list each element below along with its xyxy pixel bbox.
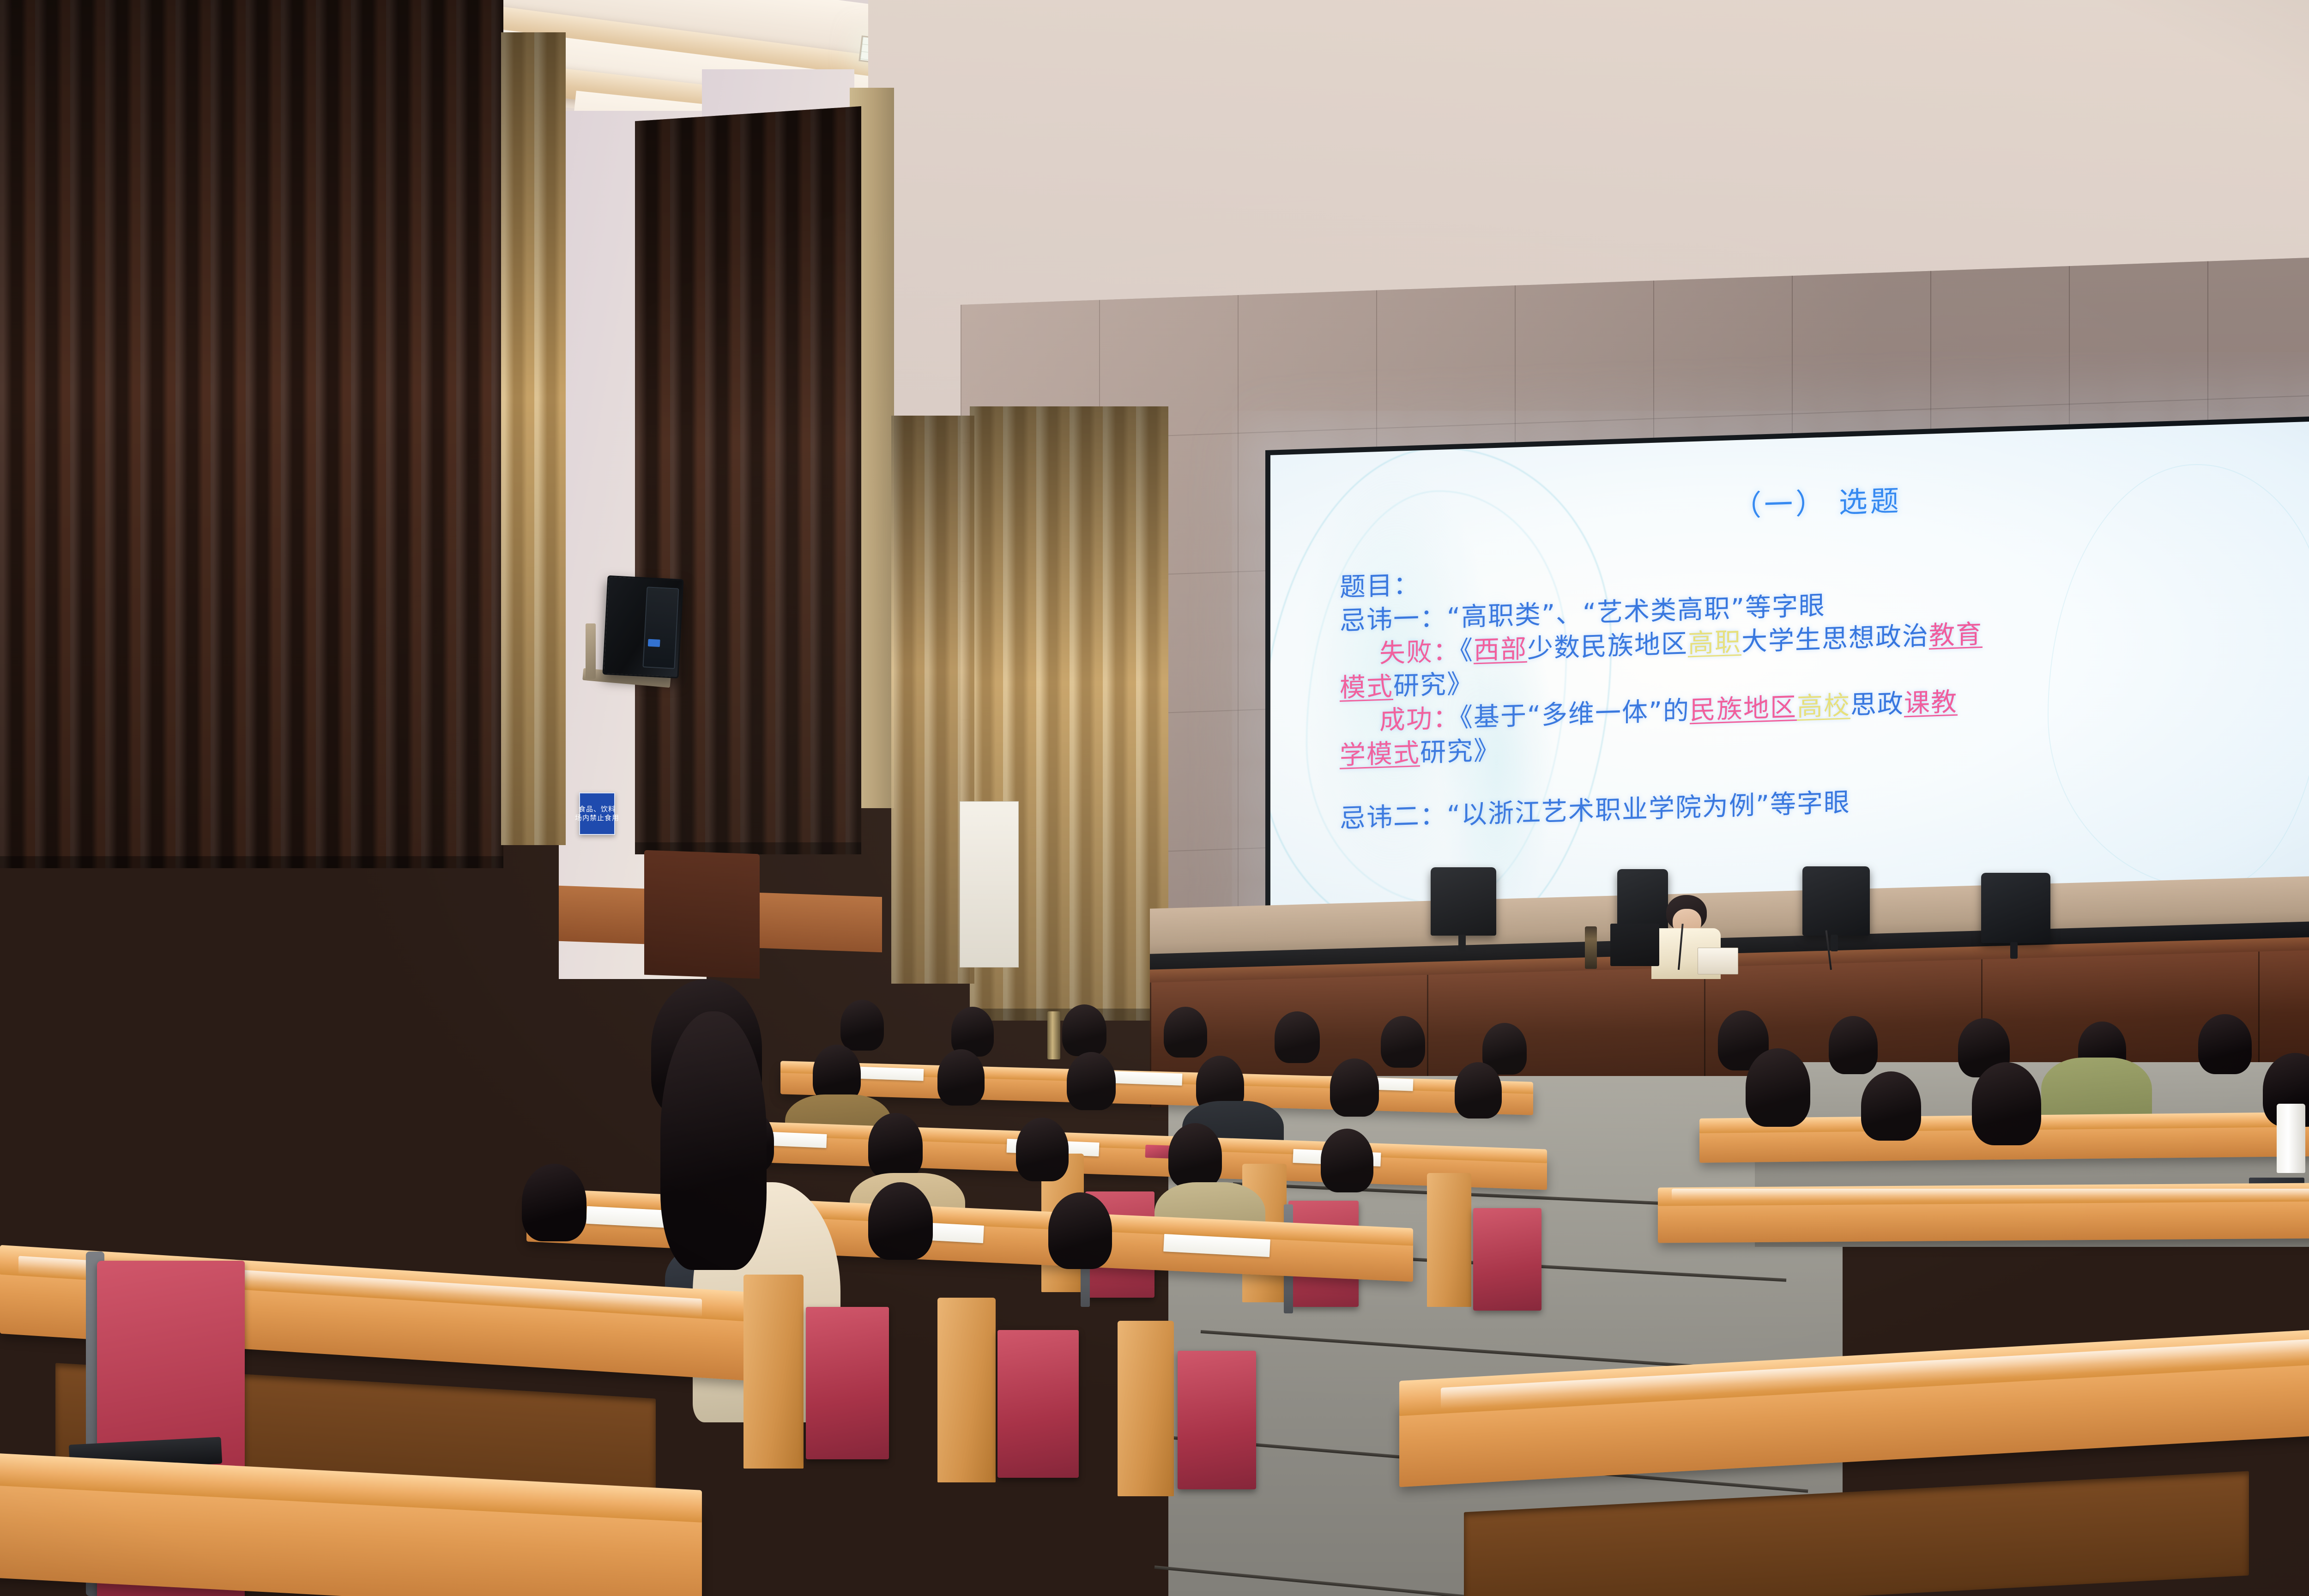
lectern (644, 850, 760, 979)
curtain-left-dark (0, 0, 503, 868)
stage-chair (1802, 866, 1870, 936)
projection-screen-frame: （一） 选题 题目：忌讳一：“高职类”、“艺术类高职”等字眼失败：《西部少数民族… (1265, 415, 2309, 944)
audience-person (1164, 1007, 1207, 1058)
slide-text-segment: 高职 (1688, 627, 1741, 659)
slide-text-segment: 研究》 (1393, 669, 1474, 702)
audience-person (1972, 1062, 2041, 1145)
slide-title: （一） 选题 (1340, 465, 2295, 537)
jbl-logo-icon (648, 639, 660, 647)
audience-person (1330, 1058, 1379, 1117)
slide-text-segment: 研究》 (1420, 736, 1500, 768)
speaker-mount-arm (586, 623, 596, 679)
paper-sheet (1108, 1071, 1183, 1086)
audience-person (1016, 1118, 1069, 1181)
audience-person (840, 1000, 884, 1051)
curtain-gold-left (501, 32, 566, 845)
drink-bottle (1047, 1011, 1060, 1059)
thermos-bottle (2277, 1104, 2305, 1173)
desk-end-panel (743, 1275, 804, 1469)
auditorium-seat[interactable] (806, 1307, 889, 1459)
audience-person (1381, 1016, 1425, 1068)
paper-sheet (854, 1066, 924, 1081)
curtain-shading (635, 106, 861, 854)
stage-chair (1981, 873, 2050, 943)
speaker-grille (642, 586, 679, 669)
slide-text-segment: 《基于“多维一体”的 (1460, 696, 1690, 733)
slide-text-segment: 题目： (1340, 570, 1420, 603)
lecture-hall-scene: 食品、饮料 场内禁止食用 （一） 选题 题目：忌讳一：“高职类”、“艺术类高职”… (0, 0, 2309, 1596)
audience-person (1062, 1004, 1106, 1056)
audience-person (868, 1182, 933, 1260)
desk-reflection (1672, 1189, 2309, 1201)
slide-text-segment: 课教 (1904, 687, 1958, 719)
presenter-laptop (1610, 924, 1659, 966)
desk-end-panel (1427, 1173, 1471, 1307)
slide-text-segment: 成功： (1379, 703, 1460, 736)
slide-text-segment: 教育 (1929, 619, 1983, 651)
foreground-student-hair (660, 1011, 767, 1270)
slide-text-segment: 学模式 (1340, 738, 1420, 771)
curtain-shading (501, 32, 566, 845)
sign-line-2: 场内禁止食用 (575, 815, 619, 822)
slide-text-segment: 模式 (1340, 671, 1393, 703)
audience-person (868, 1113, 923, 1179)
auditorium-seat[interactable] (997, 1330, 1079, 1478)
slide-text-segment: 西部 (1474, 634, 1527, 665)
curtain-hem (0, 856, 503, 868)
slide-text-segment: 失败： (1379, 636, 1460, 669)
slide-text-segment: 少数民族地区 (1527, 629, 1688, 664)
slide-text-segment: 大学生思想政治 (1741, 621, 1929, 657)
slide-content: （一） 选题 题目：忌讳一：“高职类”、“艺术类高职”等字眼失败：《西部少数民族… (1270, 420, 2309, 939)
audience-person (1829, 1016, 1878, 1074)
audience-person (937, 1049, 985, 1106)
audience-person (813, 1045, 861, 1102)
speaker-nameplate (1698, 948, 1738, 974)
audience-person (1321, 1129, 1373, 1192)
slide-text-segment: 民族地区 (1690, 692, 1797, 725)
desk-end-panel (937, 1298, 996, 1482)
audience-person (1048, 1192, 1112, 1269)
stage-chair (1431, 867, 1496, 936)
audience-person (1455, 1062, 1502, 1118)
audience-person (1168, 1123, 1222, 1188)
slide-text-segment: 《 (1460, 635, 1474, 666)
curtain-shading (0, 0, 503, 868)
sign-line-1: 食品、饮料 (579, 806, 616, 813)
audience-person (522, 1164, 586, 1241)
slide-text-block: 题目：忌讳一：“高职类”、“艺术类高职”等字眼失败：《西部少数民族地区高职大学生… (1340, 540, 2295, 836)
auditorium-seat[interactable] (1473, 1208, 1541, 1311)
slide-text-segment: 思政 (1850, 689, 1904, 721)
desk-end-panel (1118, 1321, 1174, 1496)
projection-screen: （一） 选题 题目：忌讳一：“高职类”、“艺术类高职”等字眼失败：《西部少数民族… (1270, 420, 2309, 939)
audience-person (2198, 1014, 2252, 1074)
no-food-sign: 食品、饮料 场内禁止食用 (579, 792, 615, 835)
audience-person (1746, 1048, 1810, 1127)
wall-speaker (602, 575, 683, 678)
stage-cabinet (960, 801, 1019, 967)
slide-text-segment: 高校 (1797, 690, 1850, 722)
audience-person (1067, 1052, 1116, 1110)
curtain-left-dark-2 (635, 106, 861, 854)
audience-person (1861, 1071, 1921, 1141)
auditorium-seat[interactable] (1178, 1351, 1256, 1489)
audience-person (1275, 1011, 1320, 1063)
water-bottle (1585, 926, 1597, 969)
